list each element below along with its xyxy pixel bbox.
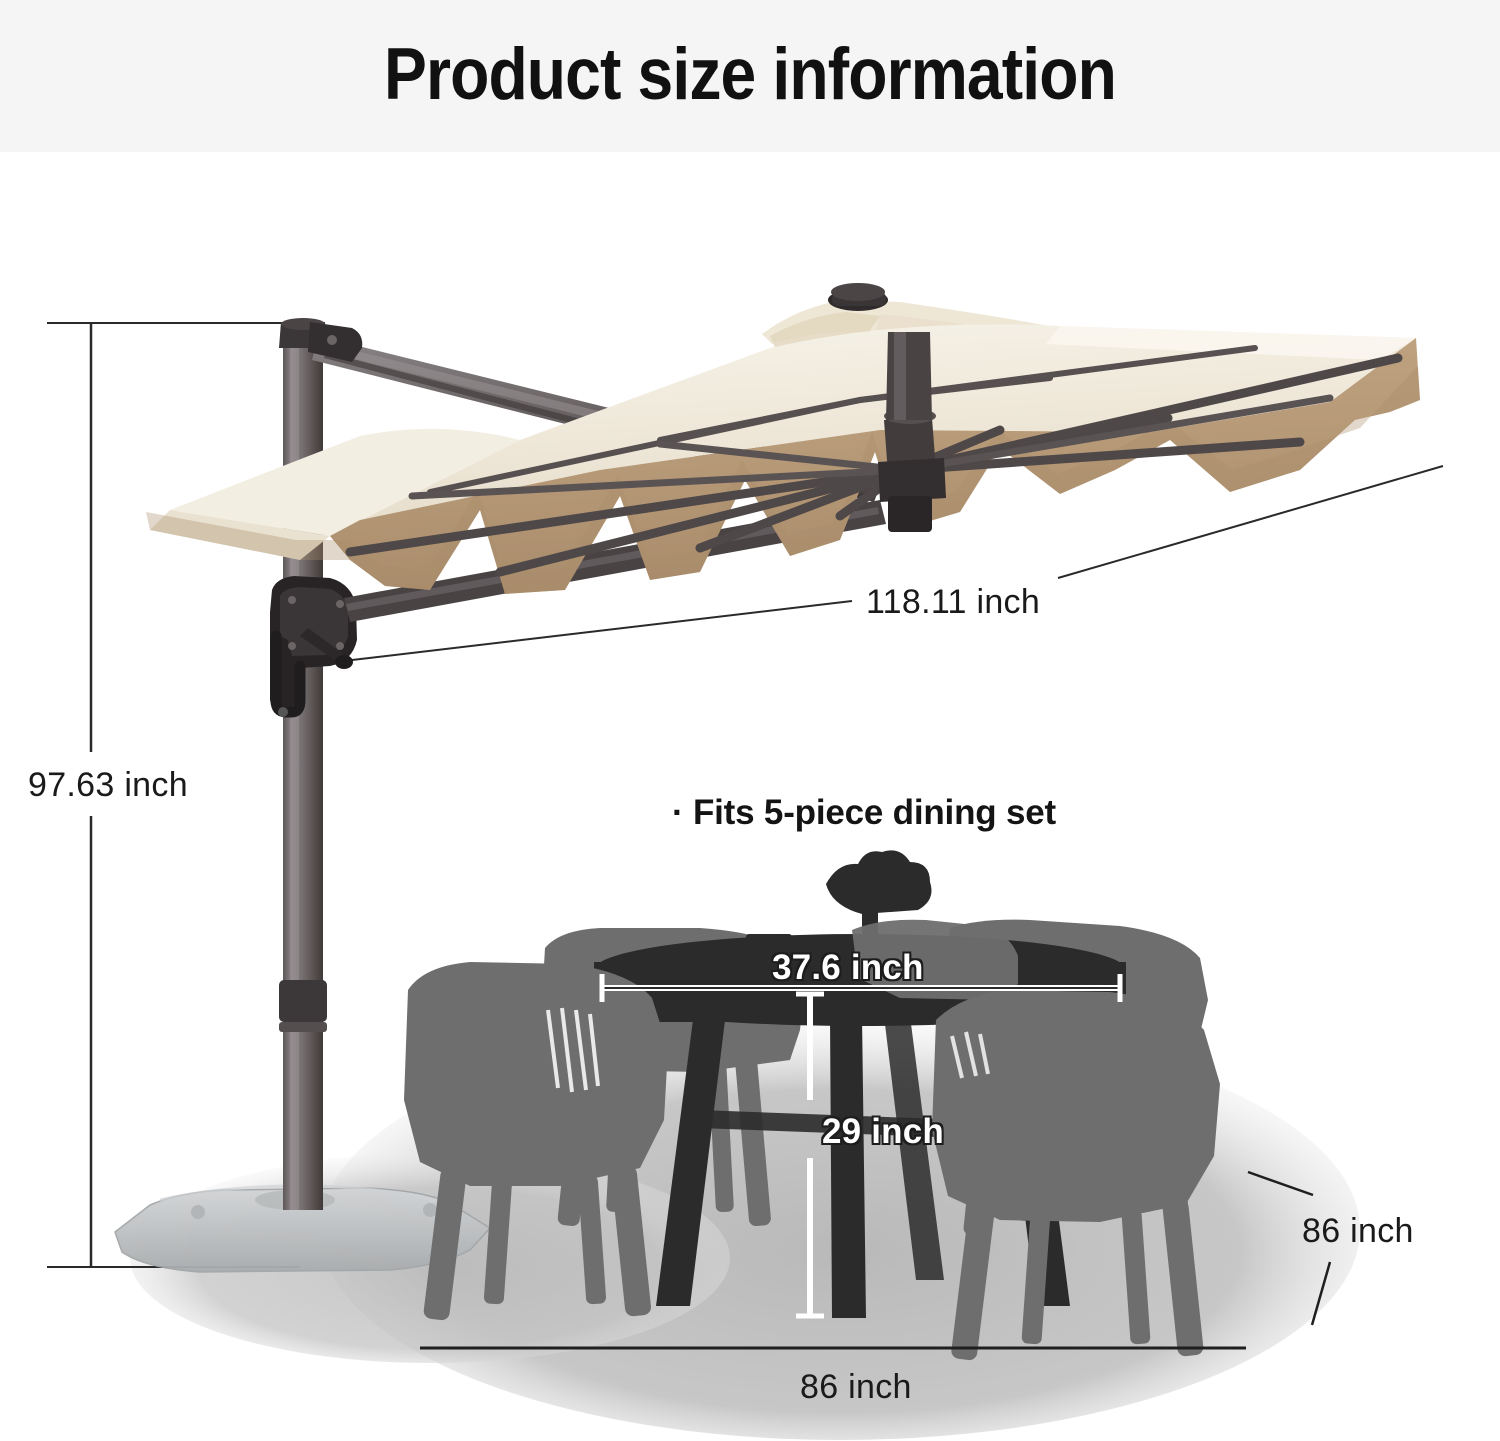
label-umbrella-height: 97.63 inch [22,762,194,809]
label-ground-width: 86 inch [800,1368,912,1407]
label-table-height: 29 inch [822,1112,944,1152]
product-size-infographic: Product size information [0,0,1500,1441]
label-fits-dining-set: · Fits 5-piece dining set [672,793,1056,833]
product-illustration [0,0,1500,1441]
label-ground-depth: 86 inch [1302,1212,1414,1251]
label-table-diameter: 37.6 inch [772,948,924,988]
label-canopy-width: 118.11 inch [866,583,1040,622]
